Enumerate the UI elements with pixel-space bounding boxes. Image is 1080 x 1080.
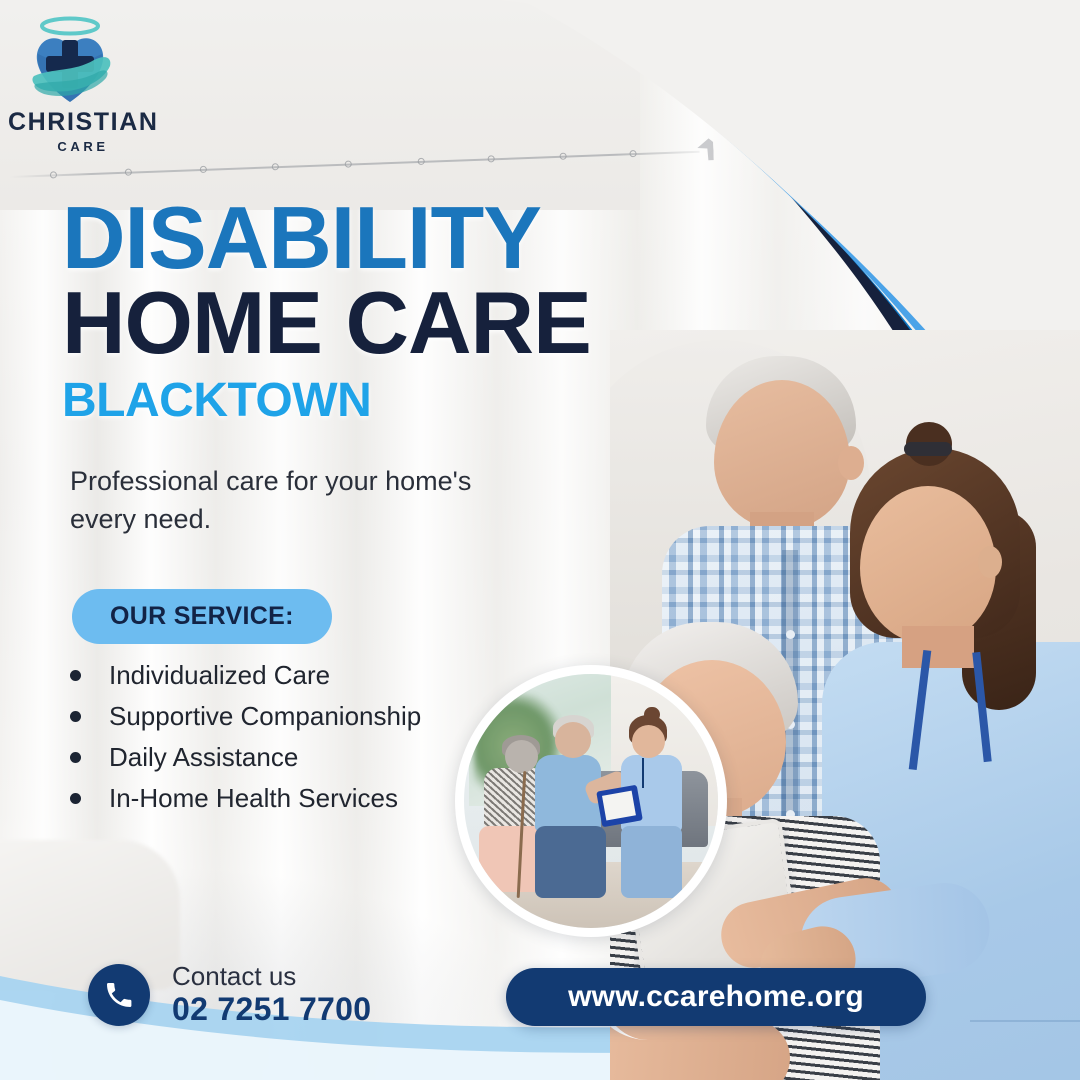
service-badge: OUR SERVICE: — [72, 589, 332, 644]
contact-number[interactable]: 02 7251 7700 — [172, 991, 371, 1028]
inset-photo — [455, 665, 727, 937]
phone-icon[interactable] — [88, 964, 150, 1026]
bullet-icon — [70, 752, 81, 763]
subtitle: Professional care for your home's every … — [70, 462, 540, 539]
bullet-icon — [70, 793, 81, 804]
list-item: Supportive Companionship — [70, 703, 421, 729]
contact-label: Contact us — [172, 962, 371, 991]
brand-name-line1: CHRISTIAN — [8, 110, 158, 135]
headline-line-1: DISABILITY — [62, 196, 591, 280]
website-link[interactable]: www.ccarehome.org — [506, 968, 926, 1026]
service-label: In-Home Health Services — [109, 785, 398, 811]
bullet-icon — [70, 711, 81, 722]
angel-halo-medical-cross-icon — [22, 14, 118, 110]
list-item: In-Home Health Services — [70, 785, 421, 811]
headline-line-2: HOME CARE — [62, 278, 591, 368]
brand-logo[interactable]: CHRISTIAN CARE — [8, 14, 198, 144]
poster-canvas: CHRISTIAN CARE — [0, 0, 1080, 1080]
contact-block[interactable]: Contact us 02 7251 7700 — [88, 962, 371, 1027]
service-label: Daily Assistance — [109, 744, 298, 770]
bullet-icon — [70, 670, 81, 681]
page-title: DISABILITY HOME CARE BLACKTOWN — [62, 196, 591, 428]
nurse-head — [860, 486, 996, 644]
list-item: Daily Assistance — [70, 744, 421, 770]
services-list: Individualized Care Supportive Companion… — [70, 662, 421, 826]
brand-name-line2: CARE — [8, 139, 158, 154]
service-label: Individualized Care — [109, 662, 330, 688]
brand-name: CHRISTIAN CARE — [8, 110, 158, 154]
list-item: Individualized Care — [70, 662, 421, 688]
headline-location: BLACKTOWN — [62, 375, 591, 428]
service-label: Supportive Companionship — [109, 703, 421, 729]
